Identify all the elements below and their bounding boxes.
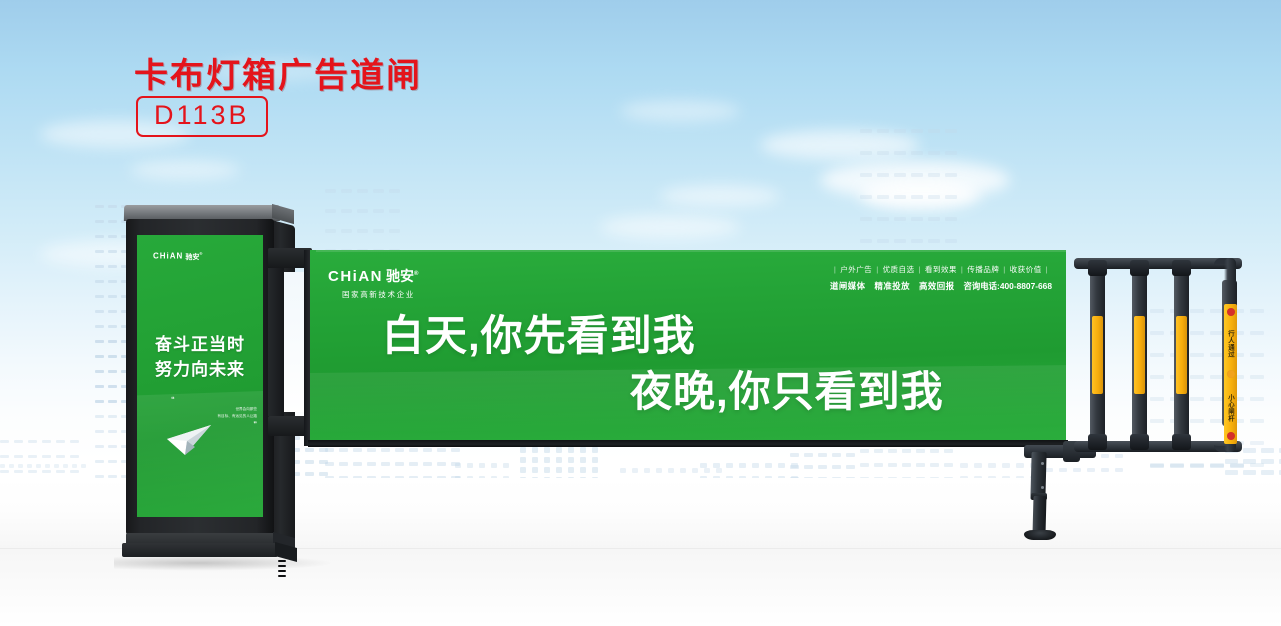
boom-brand-logo: CHiAN驰安® 国家高新技术企业 (328, 266, 420, 300)
warning-badge-icon (1227, 308, 1235, 316)
lightbox-quote: ❝ 世界会向那些 有目标、有远见的人让路 ❞ (171, 395, 257, 431)
fence-vertical-bar (1174, 264, 1189, 446)
model-badge-label: D113B (154, 100, 250, 130)
boom-brand-main: CHiAN驰安® (328, 266, 420, 286)
fence-warning-bar: 行人通过 小心闸杆 (1222, 280, 1237, 426)
barrier-fence-section: 行人通过 小心闸杆 (1074, 258, 1242, 452)
cabinet-shadow (114, 555, 334, 571)
fence-warning-label: 行人通过 小心闸杆 (1224, 304, 1237, 444)
lightbox-headline-line2: 努力向未来 (137, 358, 263, 383)
fence-bar-cap-bottom (1088, 434, 1107, 450)
fence-bar-cap-top (1130, 260, 1149, 276)
lightbox-brand-logo: CHiAN驰安® (153, 251, 203, 262)
fence-bar-cap-bottom (1172, 434, 1191, 450)
quote-open-mark: ❝ (171, 395, 257, 406)
fence-warning-text-1: 行人通过 (1224, 320, 1237, 368)
cloud-shape (600, 215, 740, 239)
boom-mount-column (268, 268, 284, 416)
boom-info-block: |户外广告|优质自选|看到效果|传播品牌|收获价值| 道闸媒体精准投放高效回报咨… (830, 264, 1052, 292)
page-title: 卡布灯箱广告道闸 (134, 48, 422, 97)
boom-brand-subtitle: 国家高新技术企业 (342, 289, 420, 300)
lightbox-brand-latin: CHiAN (153, 252, 183, 261)
support-leg-screw (1041, 462, 1044, 465)
quote-close-mark: ❞ (171, 420, 257, 431)
boom-brand-mark: ® (414, 271, 420, 277)
boom-ad-panel: CHiAN驰安® 国家高新技术企业 |户外广告|优质自选|看到效果|传播品牌|收… (310, 250, 1066, 442)
support-leg-lower (1033, 496, 1047, 534)
lightbox-cabinet: CHiAN驰安® 奋斗正当时 努力向未来 ❝ 世界会向那些 有目标、有远见的人让… (120, 205, 290, 553)
boom-slogan-line2: 夜晚,你只看到我 (630, 358, 944, 419)
boom-brand-cn: 驰安 (386, 268, 414, 284)
fence-reflector-strip (1092, 316, 1103, 394)
lightbox-headline: 奋斗正当时 努力向未来 (137, 333, 263, 382)
fence-reflector-strip (1176, 316, 1187, 394)
paper-plane-icon (165, 423, 213, 457)
boom-brand-latin: CHiAN (328, 268, 383, 285)
lightbox-quote-line2: 有目标、有远见的人让路 (171, 413, 257, 420)
support-leg-screw (1041, 486, 1044, 489)
boom-benefits: 道闸媒体精准投放高效回报 (830, 281, 964, 291)
warning-badge-icon (1227, 432, 1235, 440)
model-badge: D113B (136, 96, 268, 137)
fence-warning-text-2: 小心闸杆 (1224, 384, 1237, 432)
cloud-shape (130, 160, 240, 180)
boom-hotline-number: 400-8807-668 (1000, 281, 1052, 291)
caution-badge-icon (1227, 370, 1235, 378)
boom-benefit-list: 道闸媒体精准投放高效回报咨询电话:400-8807-668 (830, 280, 1052, 292)
boom-feature-list: |户外广告|优质自选|看到效果|传播品牌|收获价值| (830, 264, 1052, 275)
cloud-shape (660, 185, 780, 207)
cloud-shape (620, 100, 740, 122)
fence-bar-cap-top (1172, 260, 1191, 276)
lightbox-display-panel: CHiAN驰安® 奋斗正当时 努力向未来 ❝ 世界会向那些 有目标、有远见的人让… (137, 235, 263, 517)
fence-vertical-bar (1090, 264, 1105, 446)
boom-bottom-edge (308, 440, 1068, 447)
fence-vertical-bar (1132, 264, 1147, 446)
fence-bar-cap-top (1088, 260, 1107, 276)
fence-reflector-strip (1134, 316, 1145, 394)
lightbox-headline-line1: 奋斗正当时 (137, 333, 263, 358)
lightbox-brand-mark: ® (199, 251, 203, 256)
fence-bar-cap-bottom (1130, 434, 1149, 450)
boom-hotline-label: 咨询电话: (964, 281, 1000, 291)
lightbox-quote-line1: 世界会向那些 (171, 406, 257, 413)
boom-slogan-line1: 白天,你先看到我 (382, 302, 696, 363)
boom-highlight (316, 250, 1066, 252)
lightbox-brand-cn: 驰安 (185, 254, 199, 261)
advertising-boom-arm: CHiAN驰安® 国家高新技术企业 |户外广告|优质自选|看到效果|传播品牌|收… (304, 250, 1072, 446)
support-leg-foot (1024, 530, 1056, 540)
cabinet-base-lower (122, 543, 278, 557)
product-scene: 卡布灯箱广告道闸 D113B CHiAN驰安® 奋斗正当时 努力向未来 ❝ 世界… (0, 0, 1281, 626)
